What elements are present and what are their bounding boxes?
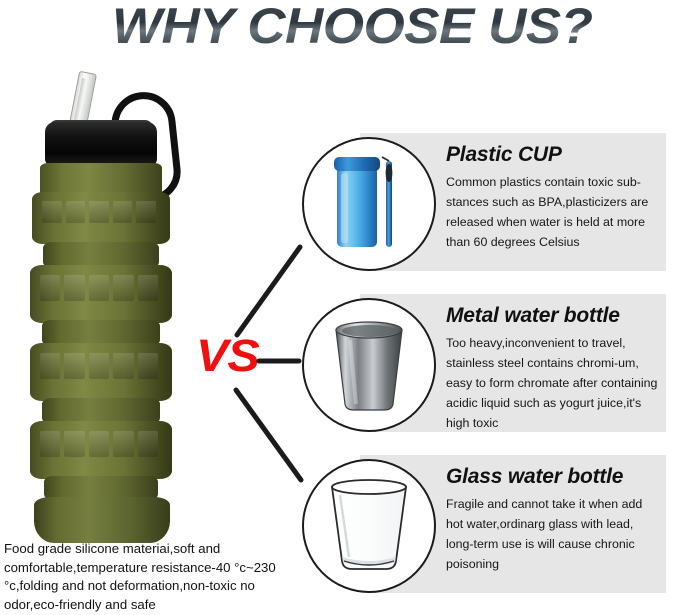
bottle-grip-tooth [138, 275, 158, 301]
bottle-grip-tooth [42, 201, 62, 223]
bottle-segment-2 [30, 265, 172, 323]
bottle-grip-tooth [138, 431, 158, 457]
bottle-segment-4 [30, 421, 172, 479]
bottle-grip-tooth [64, 431, 84, 457]
panel-text-plastic-cup: Plastic CUP Common plastics contain toxi… [446, 143, 660, 252]
vs-label: VS [196, 330, 259, 382]
bottle-base [34, 497, 170, 543]
bottle-grip-tooth [113, 431, 133, 457]
product-bottle-image [18, 62, 218, 542]
connector-to-glass [236, 390, 301, 480]
bottle-grip-tooth [64, 275, 84, 301]
panel-body: Common plastics contain toxic sub-stance… [446, 172, 660, 252]
bottle-segment-3 [30, 343, 172, 401]
connector-to-plastic [237, 247, 300, 335]
bottle-grip-tooth [113, 201, 133, 223]
bottle-grip-tooth [40, 275, 60, 301]
bottle-grip-tooth [113, 353, 133, 379]
metal-tumbler-icon [302, 298, 436, 432]
bottle-grip-tooth [40, 431, 60, 457]
bottle-grip-tooth [113, 275, 133, 301]
comparison-panel-glass-bottle: Glass water bottle Fragile and cannot ta… [298, 455, 666, 593]
title-bar: WHY CHOOSE US? [0, 0, 679, 62]
bottle-cap [45, 122, 157, 166]
comparison-panel-metal-bottle: Metal water bottle Too heavy,inconvenien… [298, 294, 666, 432]
panel-title: Glass water bottle [446, 465, 660, 489]
panel-body: Fragile and cannot take it when add hot … [446, 494, 660, 574]
comparison-panel-plastic-cup: Plastic CUP Common plastics contain toxi… [298, 133, 666, 271]
plastic-cup-icon [302, 137, 436, 271]
page-title: WHY CHOOSE US? [112, 0, 592, 55]
panel-text-glass-bottle: Glass water bottle Fragile and cannot ta… [446, 465, 660, 574]
bottle-grip-tooth [138, 353, 158, 379]
bottle-grip-tooth [136, 201, 156, 223]
glass-tumbler-icon [302, 459, 436, 593]
bottle-grip-tooth [89, 201, 109, 223]
bottle-grip-tooth [40, 353, 60, 379]
panel-text-metal-bottle: Metal water bottle Too heavy,inconvenien… [446, 304, 660, 433]
bottle-grip-tooth [64, 353, 84, 379]
panel-body: Too heavy,inconvenient to travel, stainl… [446, 333, 660, 433]
bottle-grip-tooth [89, 353, 109, 379]
bottle-grip-tooth [89, 431, 109, 457]
product-caption: Food grade silicone materiai,soft and co… [4, 540, 300, 615]
panel-title: Metal water bottle [446, 304, 660, 328]
bottle-segment-1 [32, 192, 170, 244]
panel-title: Plastic CUP [446, 143, 660, 167]
bottle-grip-tooth [66, 201, 86, 223]
bottle-grip-tooth [89, 275, 109, 301]
